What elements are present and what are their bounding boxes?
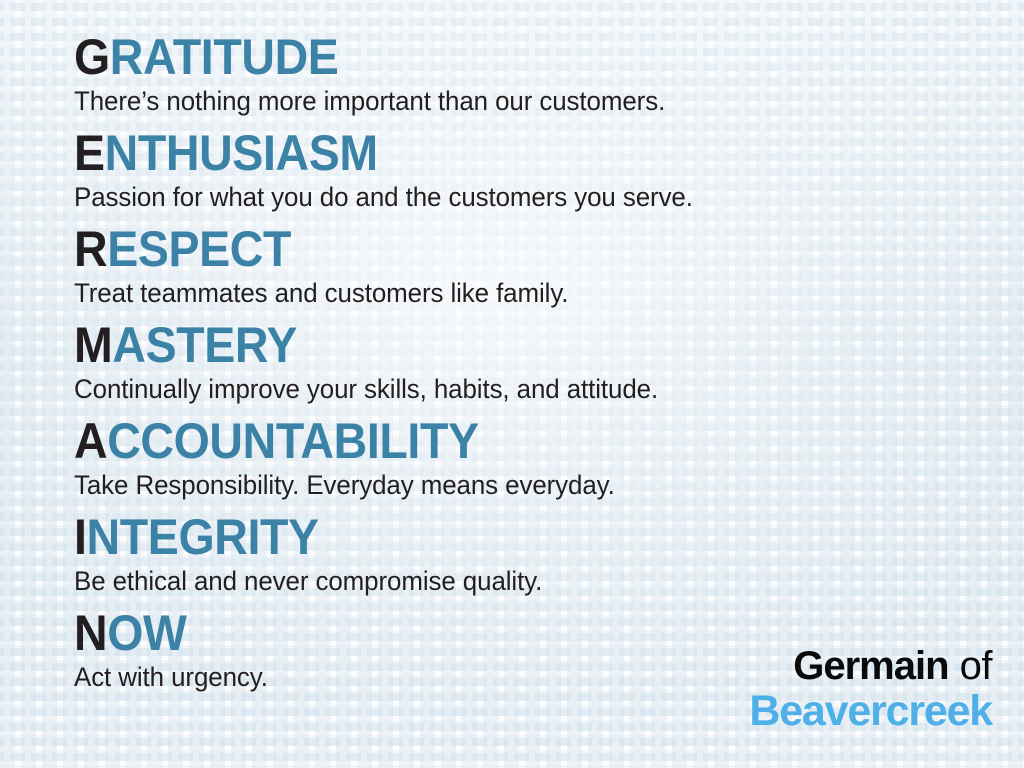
value-remaining-letters: NTHUSIASM (105, 125, 378, 181)
value-item-gratitude: GRATITUDE There’s nothing more important… (74, 32, 974, 117)
value-remaining-letters: CCOUNTABILITY (107, 413, 478, 469)
value-subtitle-mastery: Continually improve your skills, habits,… (74, 374, 938, 405)
core-values-poster: GRATITUDE There’s nothing more important… (0, 0, 1024, 768)
value-subtitle-gratitude: There’s nothing more important than our … (74, 86, 938, 117)
value-heading-accountability: ACCOUNTABILITY (74, 416, 911, 466)
dealership-logo: Germain of Beavercreek (749, 644, 992, 734)
value-initial-letter: R (74, 221, 107, 277)
value-item-respect: RESPECT Treat teammates and customers li… (74, 224, 974, 309)
value-item-accountability: ACCOUNTABILITY Take Responsibility. Ever… (74, 416, 974, 501)
value-remaining-letters: ASTERY (112, 317, 297, 373)
value-initial-letter: M (74, 317, 112, 373)
value-heading-integrity: INTEGRITY (74, 512, 911, 562)
logo-connector-word: of (960, 644, 992, 688)
value-remaining-letters: NTEGRITY (87, 509, 319, 565)
value-heading-enthusiasm: ENTHUSIASM (74, 128, 911, 178)
value-item-enthusiasm: ENTHUSIASM Passion for what you do and t… (74, 128, 974, 213)
value-subtitle-respect: Treat teammates and customers like famil… (74, 278, 938, 309)
value-subtitle-integrity: Be ethical and never compromise quality. (74, 566, 938, 597)
value-subtitle-accountability: Take Responsibility. Everyday means ever… (74, 470, 938, 501)
value-remaining-letters: ESPECT (107, 221, 291, 277)
value-initial-letter: E (74, 125, 105, 181)
value-subtitle-enthusiasm: Passion for what you do and the customer… (74, 182, 938, 213)
value-initial-letter: A (74, 413, 107, 469)
value-initial-letter: N (74, 605, 107, 661)
core-values-list: GRATITUDE There’s nothing more important… (74, 32, 974, 704)
value-item-mastery: MASTERY Continually improve your skills,… (74, 320, 974, 405)
value-heading-gratitude: GRATITUDE (74, 32, 911, 82)
value-initial-letter: I (74, 509, 87, 565)
value-item-integrity: INTEGRITY Be ethical and never compromis… (74, 512, 974, 597)
value-heading-respect: RESPECT (74, 224, 911, 274)
logo-brand-name: Germain (793, 644, 948, 688)
value-remaining-letters: RATITUDE (110, 29, 339, 85)
value-remaining-letters: OW (107, 605, 186, 661)
logo-location-name: Beavercreek (749, 688, 992, 734)
value-initial-letter: G (74, 29, 110, 85)
value-heading-mastery: MASTERY (74, 320, 911, 370)
logo-primary-line: Germain of (749, 644, 992, 688)
